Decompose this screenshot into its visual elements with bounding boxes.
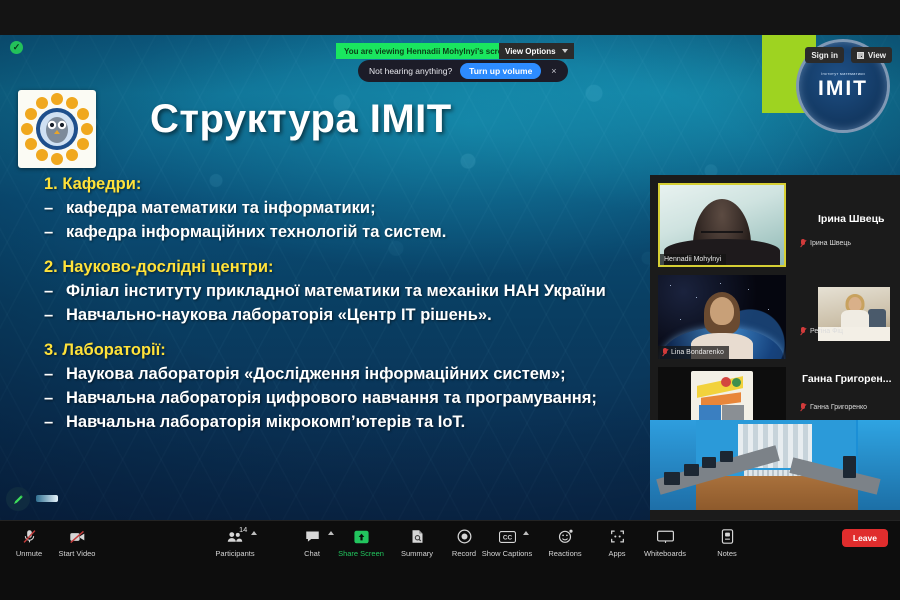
video-tile-name: Lina Bondarenko (658, 346, 729, 359)
bullet-text: Навчальна лабораторія мікрокомп’ютерів т… (66, 412, 644, 434)
toolbar-button-label: Chat (304, 549, 320, 558)
hanna-name-label: Ганна Григоренко (810, 404, 867, 411)
view-options-label: View Options (505, 47, 556, 56)
toolbar-button-label: Reactions (548, 549, 581, 558)
bullet-text: Навчальна лабораторія цифрового навчання… (66, 388, 644, 410)
toolbar-button-start-video[interactable]: Start Video (50, 523, 104, 558)
chevron-up-icon[interactable] (251, 531, 257, 535)
reactions-icon (558, 528, 573, 545)
slide-bullet: –Навчальна лабораторія мікрокомп’ютерів … (36, 412, 644, 434)
sign-in-button[interactable]: Sign in (805, 47, 844, 63)
bullet-dash: – (36, 364, 66, 386)
toolbar-button-label: Start Video (59, 549, 96, 558)
chevron-down-icon (562, 49, 568, 53)
toolbar-button-share-screen[interactable]: Share Screen (334, 523, 388, 558)
slide-group: 1. Кафедри:–кафедра математики та інформ… (36, 175, 644, 244)
toolbar-button-unmute[interactable]: Unmute (2, 523, 56, 558)
slide-bullet: –Навчально-наукова лабораторія «Центр IT… (36, 305, 644, 327)
chat-icon (305, 528, 320, 545)
video-tile-classroom[interactable] (650, 420, 900, 510)
slide-bullet: –кафедра інформаційних технологій та сис… (36, 222, 644, 244)
audio-tooltip-text: Not hearing anything? (369, 66, 452, 76)
leave-button[interactable]: Leave (842, 529, 888, 547)
view-label: View (868, 51, 886, 60)
room-monitor (664, 472, 680, 485)
participant-row-iryna[interactable]: Ірина Швець (800, 239, 851, 248)
sign-in-label: Sign in (811, 51, 838, 60)
meeting-top-bar (0, 0, 900, 35)
svg-text:CC: CC (502, 534, 512, 541)
mic-muted-icon (22, 528, 37, 545)
notes-icon (721, 528, 734, 545)
zoom-meeting-window: Структура ІМІТ Інститут математики IMIT … (0, 0, 900, 600)
participant-name-hanna-large: Ганна Григорен... (802, 373, 892, 385)
toolbar-button-label: Summary (401, 549, 433, 558)
audio-tooltip: Not hearing anything? Turn up volume × (358, 60, 568, 82)
annotation-color-strip[interactable] (36, 495, 58, 502)
room-right-wall (858, 420, 900, 510)
slide-group: 3. Лабораторії:–Наукова лабораторія «Дос… (36, 341, 644, 434)
record-icon (457, 528, 472, 545)
bullet-dash: – (36, 281, 66, 303)
captions-icon: CC (499, 528, 516, 545)
toolbar-items: UnmuteStart Video14ParticipantsChatShare… (0, 523, 900, 569)
room-monitor (684, 464, 699, 476)
participant-name-iryna-large: Ірина Швець (818, 213, 885, 225)
bullet-dash: – (36, 198, 66, 220)
toolbar-button-show-captions[interactable]: CCShow Captions (480, 523, 534, 558)
iryna-name-label: Ірина Швець (810, 240, 851, 247)
toolbar-button-notes[interactable]: Notes (700, 523, 754, 558)
apps-icon (610, 528, 625, 545)
bullet-text: Філіал інституту прикладної математики т… (66, 281, 644, 303)
slide-bullet: –кафедра математики та інформатики; (36, 198, 644, 220)
mic-muted-icon (800, 403, 806, 412)
toolbar-button-label: Share Screen (338, 549, 384, 558)
participant-row-regina[interactable]: Регіна Фіц (800, 327, 843, 336)
view-layout-button[interactable]: View (851, 47, 892, 63)
imit-subtext: Інститут математики (821, 71, 865, 76)
mic-muted-icon (800, 327, 806, 336)
lina-name-label: Lina Bondarenko (671, 349, 724, 356)
room-monitor (720, 451, 733, 462)
bullet-text: кафедра інформаційних технологій та сист… (66, 222, 644, 244)
summary-icon (411, 528, 424, 545)
toolbar-button-label: Participants (215, 549, 254, 558)
mic-muted-icon (662, 348, 668, 357)
slide-title: Структура ІМІТ (150, 97, 452, 142)
bullet-dash: – (36, 305, 66, 327)
toolbar-button-participants[interactable]: 14Participants (208, 523, 262, 558)
speaker-name-label: Hennadii Mohylnyi (664, 256, 721, 263)
video-tile-lina[interactable]: Lina Bondarenko (658, 275, 786, 359)
bullet-dash: – (36, 222, 66, 244)
viewing-screen-banner: You are viewing Hennadii Mohylnyi's scre… (336, 43, 520, 59)
view-options-button[interactable]: View Options (499, 43, 574, 59)
toolbar-button-chat[interactable]: Chat (285, 523, 339, 558)
recording-presence-indicator: ✓ (10, 41, 23, 54)
participant-row-hanna[interactable]: Ганна Григоренко (800, 403, 867, 412)
regina-name-label: Регіна Фіц (810, 328, 843, 335)
bullet-text: кафедра математики та інформатики; (66, 198, 644, 220)
slide-body: 1. Кафедри:–кафедра математики та інформ… (36, 175, 644, 448)
turn-up-volume-button[interactable]: Turn up volume (460, 63, 541, 79)
toolbar-button-label: Whiteboards (644, 549, 686, 558)
imit-text: IMIT (818, 77, 868, 101)
bullet-dash: – (36, 388, 66, 410)
university-emblem-logo (18, 90, 96, 168)
toolbar-button-label: Show Captions (482, 549, 532, 558)
slide-group-heading: 3. Лабораторії: (44, 341, 644, 360)
bullet-text: Навчально-наукова лабораторія «Центр IT … (66, 305, 644, 327)
toolbar-button-whiteboards[interactable]: Whiteboards (638, 523, 692, 558)
slide-group: 2. Науково-дослідні центри:–Філіал інсти… (36, 258, 644, 327)
toolbar-button-label: Notes (717, 549, 737, 558)
camera-off-icon (69, 528, 86, 545)
toolbar-button-label: Record (452, 549, 476, 558)
video-tile-active-speaker[interactable]: Hennadii Mohylnyi (658, 183, 786, 267)
annotate-pencil-button[interactable] (6, 487, 30, 511)
toolbar-button-apps[interactable]: Apps (590, 523, 644, 558)
mic-muted-icon (800, 239, 806, 248)
slide-group-heading: 1. Кафедри: (44, 175, 644, 194)
bullet-text: Наукова лабораторія «Дослідження інформа… (66, 364, 644, 386)
grid-view-icon (857, 52, 864, 59)
meeting-toolbar: UnmuteStart Video14ParticipantsChatShare… (0, 520, 900, 600)
toolbar-button-reactions[interactable]: Reactions (538, 523, 592, 558)
share-screen-icon (354, 528, 369, 545)
slide-bullet: –Навчальна лабораторія цифрового навчанн… (36, 388, 644, 410)
slide-bullet: –Наукова лабораторія «Дослідження інформ… (36, 364, 644, 386)
close-icon[interactable]: × (549, 66, 558, 76)
participants-video-panel[interactable]: Hennadii Mohylnyi Lina Bondarenko (650, 175, 900, 520)
toolbar-button-label: Apps (608, 549, 625, 558)
video-tile-name: Hennadii Mohylnyi (660, 254, 726, 265)
lina-head (710, 297, 734, 325)
room-monitor (843, 456, 856, 478)
slide-group-heading: 2. Науково-дослідні центри: (44, 258, 644, 277)
chevron-up-icon[interactable] (523, 531, 529, 535)
toolbar-button-label: Unmute (16, 549, 42, 558)
bullet-dash: – (36, 412, 66, 434)
slide-bullet: –Філіал інституту прикладної математики … (36, 281, 644, 303)
participants-count: 14 (239, 525, 247, 534)
toolbar-button-summary[interactable]: Summary (390, 523, 444, 558)
whiteboard-icon (657, 528, 674, 545)
room-monitor (702, 457, 716, 468)
